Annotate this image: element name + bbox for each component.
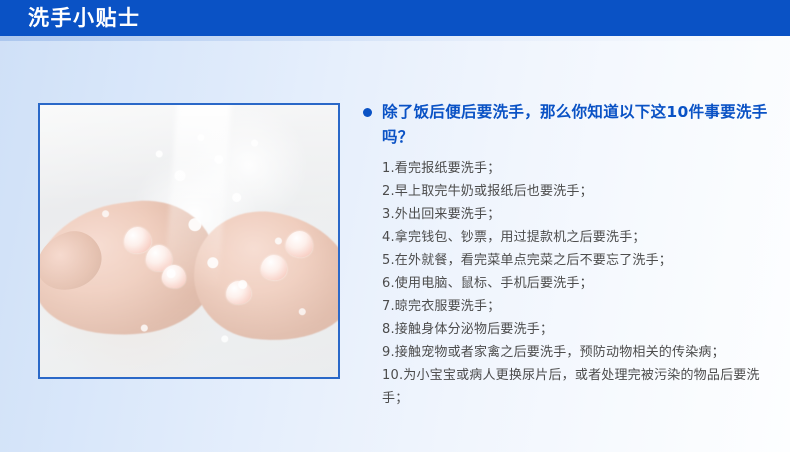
header-shadow-divider — [0, 36, 790, 41]
list-item: 5.在外就餐，看完菜单点完菜之后不要忘了洗手； — [382, 249, 780, 272]
list-item: 3.外出回来要洗手； — [382, 203, 780, 226]
tips-heading: 除了饭后便后要洗手，那么你知道以下这10件事要洗手吗？ — [382, 100, 780, 150]
page-title: 洗手小贴士 — [28, 0, 141, 36]
page-header-banner: 洗手小贴士 — [0, 0, 790, 36]
list-item: 2.早上取完牛奶或报纸后也要洗手； — [382, 180, 780, 203]
tips-list: 1.看完报纸要洗手； 2.早上取完牛奶或报纸后也要洗手； 3.外出回来要洗手； … — [360, 157, 780, 410]
list-item: 10.为小宝宝或病人更换尿片后，或者处理完被污染的物品后要洗手； — [382, 364, 782, 410]
list-item: 8.接触身体分泌物后要洗手； — [382, 318, 780, 341]
list-item: 9.接触宠物或者家禽之后要洗手，预防动物相关的传染病； — [382, 341, 780, 364]
water-splash-shape — [40, 105, 338, 377]
tips-content-column: 除了饭后便后要洗手，那么你知道以下这10件事要洗手吗？ 1.看完报纸要洗手； 2… — [360, 100, 780, 410]
list-item: 6.使用电脑、鼠标、手机后要洗手； — [382, 272, 780, 295]
handwashing-photo — [40, 105, 338, 377]
tips-heading-row: 除了饭后便后要洗手，那么你知道以下这10件事要洗手吗？ — [360, 100, 780, 150]
list-item: 1.看完报纸要洗手； — [382, 157, 780, 180]
list-item: 7.晾完衣服要洗手； — [382, 295, 780, 318]
list-item: 4.拿完钱包、钞票，用过提款机之后要洗手； — [382, 226, 780, 249]
bullet-point-icon — [363, 108, 372, 117]
handwashing-photo-frame — [38, 103, 340, 379]
